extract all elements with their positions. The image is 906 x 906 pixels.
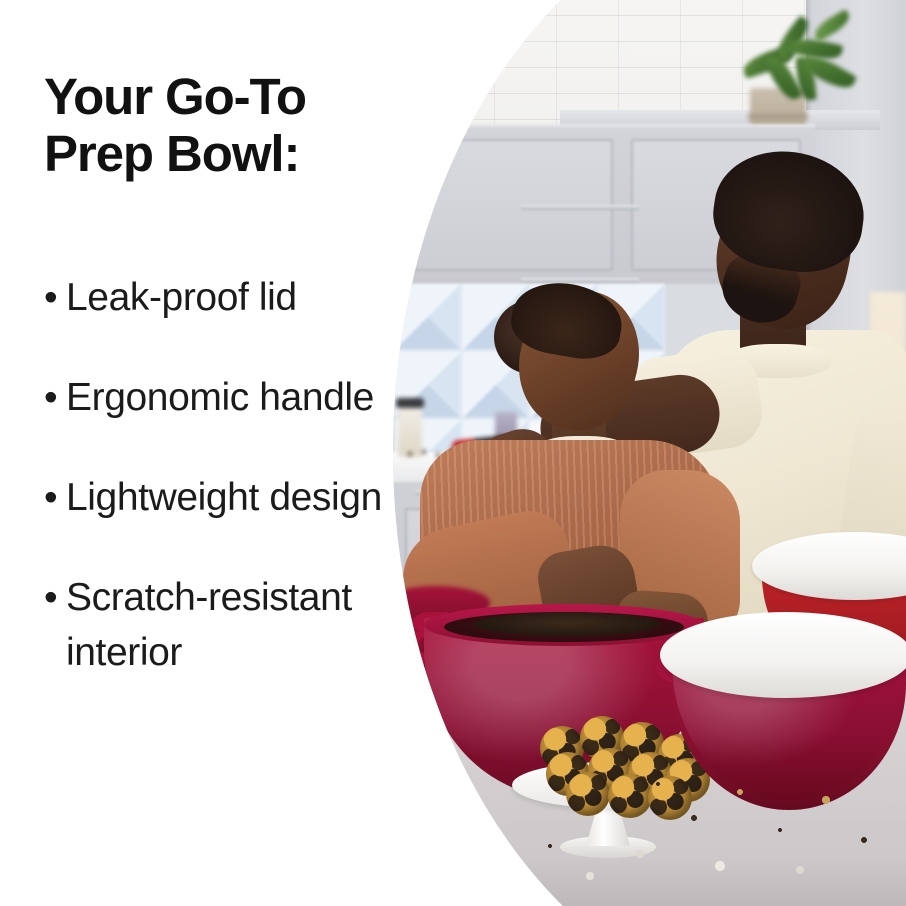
list-item: • Scratch-resistant interior: [44, 570, 404, 680]
bullet-icon: •: [44, 470, 66, 525]
list-item: • Lightweight design: [44, 470, 404, 525]
feature-text: Scratch-resistant interior: [66, 570, 404, 680]
feature-list: • Leak-proof lid • Ergonomic handle • Li…: [44, 270, 404, 680]
counter-crumbs: [440, 820, 640, 900]
bullet-icon: •: [44, 570, 66, 625]
copy-column: Your Go-To Prep Bowl: • Leak-proof lid •…: [44, 68, 404, 680]
bullet-icon: •: [44, 270, 66, 325]
list-item: • Ergonomic handle: [44, 370, 404, 425]
bowl-mixture: [474, 612, 660, 636]
feature-text: Leak-proof lid: [66, 270, 404, 325]
bullet-icon: •: [44, 370, 66, 425]
feature-text: Ergonomic handle: [66, 370, 404, 425]
list-item: • Leak-proof lid: [44, 270, 404, 325]
front-bowl-white-lid: [660, 612, 906, 698]
product-feature-card: Your Go-To Prep Bowl: • Leak-proof lid •…: [0, 0, 906, 906]
feature-text: Lightweight design: [66, 470, 404, 525]
page-title: Your Go-To Prep Bowl:: [44, 68, 404, 182]
counter-crumbs: [600, 770, 906, 890]
cabinet-handle: [520, 278, 640, 283]
cabinet-handle: [520, 205, 640, 210]
